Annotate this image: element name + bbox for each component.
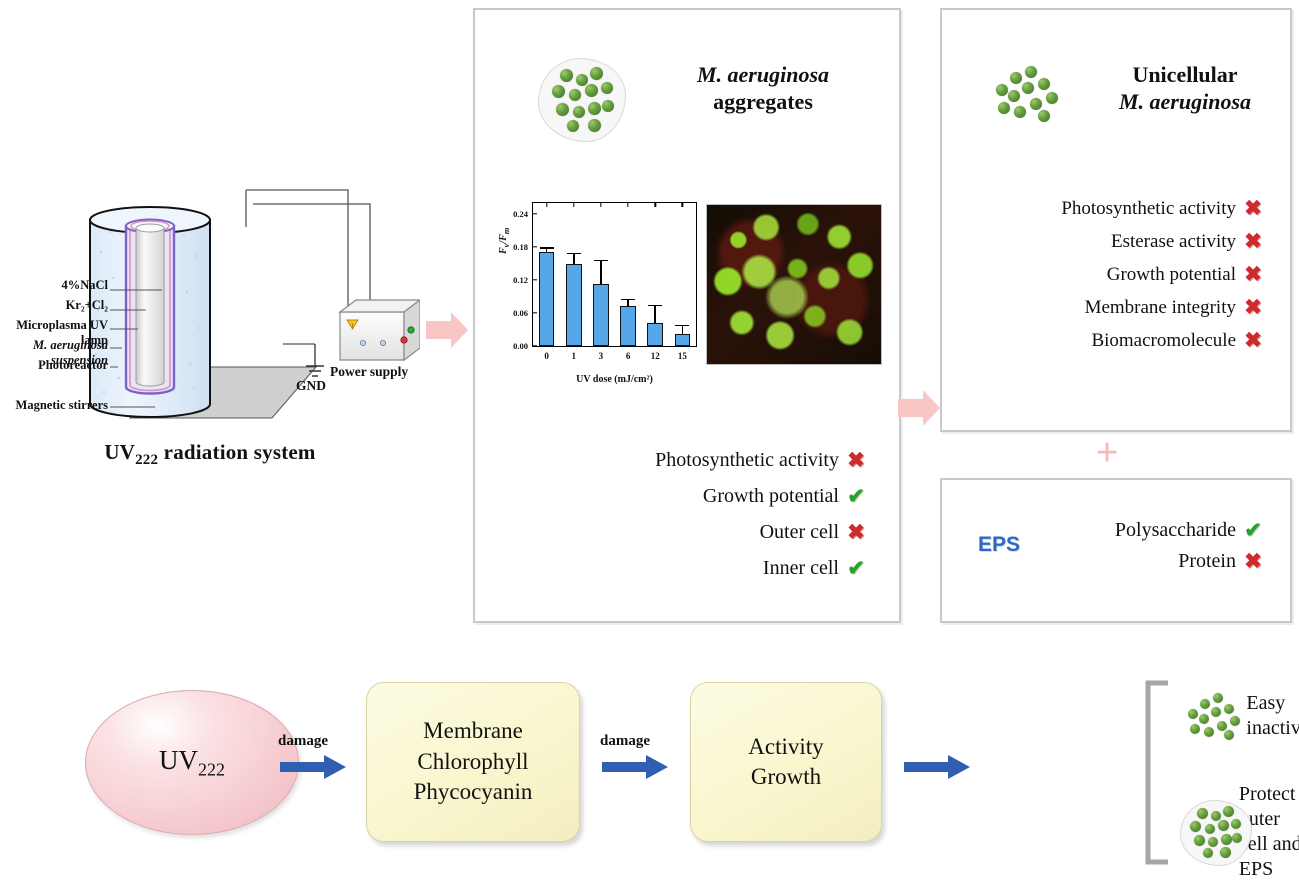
- outcome-easy-inactivation: Easy inactivation: [1184, 691, 1299, 741]
- label-photoreactor: Photoreactor: [0, 358, 108, 373]
- checklist-label: Polysaccharide: [1115, 519, 1236, 542]
- chart-y-tick-label: 0.24: [513, 209, 528, 219]
- uv-radiation-system-diagram: ! 4%NaCl Kr₂+Cl₂ Microplasma UV lamp M. …: [0, 182, 420, 442]
- checklist-row: Membrane integrity✖: [950, 295, 1270, 320]
- chart-x-tick-label: 12: [651, 351, 660, 361]
- flow-arrow-2: [602, 754, 670, 780]
- flow-box1-line2: Chlorophyll: [417, 747, 528, 777]
- chart-x-tick-mark: [627, 203, 628, 207]
- chart-y-tick-label: 0.12: [513, 275, 528, 285]
- chart-error-bar: [600, 260, 602, 284]
- outcome1-text: Easy inactivation: [1246, 691, 1299, 741]
- unicellular-cells-icon: [990, 62, 1066, 124]
- uv-system-caption: UV222 radiation system: [0, 440, 420, 469]
- cell-aggregate-icon: [1180, 800, 1225, 864]
- checklist-row: Photosynthetic activity✖: [493, 448, 873, 473]
- flow-box1-line3: Phycocyanin: [414, 777, 533, 807]
- cross-icon: ✖: [839, 448, 873, 473]
- chart-x-tick-mark: [600, 203, 601, 207]
- outcome1-line1: Easy inactivation: [1246, 691, 1299, 741]
- pink-arrow-middle-to-right: [896, 384, 942, 434]
- chart-error-cap: [648, 305, 662, 307]
- checklist-label: Photosynthetic activity: [655, 449, 839, 472]
- chart-x-tick-mark: [546, 203, 547, 207]
- outcome-bracket: [1142, 680, 1174, 866]
- chart-bar: [675, 334, 691, 346]
- label-gnd: GND: [296, 378, 326, 394]
- aggregates-checklist: Photosynthetic activity✖Growth potential…: [493, 448, 873, 592]
- panel-aggregates-title-line1: M. aeruginosa: [648, 62, 878, 89]
- flow-box2-line2: Growth: [751, 762, 821, 792]
- label-kr-cl: Kr₂+Cl₂: [0, 298, 108, 313]
- mechanism-flow-diagram: UV222 damage Membrane Chlorophyll Phycoc…: [0, 655, 1299, 866]
- chart-x-tick-mark: [682, 203, 683, 207]
- unicellular-checklist: Photosynthetic activity✖Esterase activit…: [950, 196, 1270, 361]
- chart-bar: [539, 252, 555, 346]
- checklist-row: Photosynthetic activity✖: [950, 196, 1270, 221]
- cell-aggregate-icon: [538, 58, 624, 140]
- chart-error-cap: [675, 325, 689, 327]
- chart-y-tick-mark: [533, 246, 537, 247]
- chart-x-tick-mark: [573, 203, 574, 207]
- flow-arrow1-label: damage: [278, 733, 328, 750]
- chart-plot-area: 0.000.060.120.180.24 01361215: [532, 202, 697, 347]
- label-power-supply: Power supply: [330, 364, 408, 380]
- checklist-row: Esterase activity✖: [950, 229, 1270, 254]
- chart-bar: [593, 284, 609, 346]
- chart-y-tick-label: 0.18: [513, 242, 528, 252]
- panel-unicellular-title-line2: M. aeruginosa: [1090, 89, 1280, 116]
- cross-icon: ✖: [1236, 196, 1270, 221]
- chart-x-axis-label: UV dose (mJ/cm²): [532, 374, 697, 385]
- fluorescence-micrograph-image: [706, 204, 882, 365]
- cross-icon: ✖: [1236, 262, 1270, 287]
- label-magnetic-stirrers: Magnetic stirrers: [0, 398, 108, 413]
- checklist-row: Growth potential✔: [493, 484, 873, 509]
- chart-y-tick-label: 0.00: [513, 341, 528, 351]
- chart-x-tick-label: 1: [572, 351, 577, 361]
- chart-x-tick-label: 0: [544, 351, 549, 361]
- outcome-protect-by-outer-cell-eps: Protect by outer cell and EPS: [1180, 782, 1299, 882]
- chart-bar: [647, 323, 663, 346]
- flow-arrow-1: [280, 754, 348, 780]
- panel-unicellular-title-line1: Unicellular: [1090, 62, 1280, 89]
- chart-x-tick-label: 15: [678, 351, 687, 361]
- check-icon: ✔: [839, 484, 873, 509]
- flow-source-uv222: UV222: [85, 690, 299, 835]
- checklist-label: Protein: [1178, 550, 1236, 573]
- flow-uv-sub: 222: [198, 759, 225, 779]
- chart-error-cap: [567, 253, 581, 255]
- chart-x-tick-label: 3: [599, 351, 604, 361]
- checklist-label: Membrane integrity: [1085, 297, 1236, 319]
- cross-icon: ✖: [1236, 549, 1270, 574]
- checklist-row: Protein✖: [960, 549, 1270, 574]
- checklist-label: Photosynthetic activity: [1061, 198, 1236, 220]
- checklist-label: Outer cell: [760, 521, 839, 544]
- flow-arrow-3: [904, 754, 972, 780]
- checklist-row: Inner cell✔: [493, 556, 873, 581]
- flow-box-membrane: Membrane Chlorophyll Phycocyanin: [366, 682, 580, 842]
- chart-y-tick-label: 0.06: [513, 308, 528, 318]
- checklist-label: Esterase activity: [1111, 231, 1236, 253]
- checklist-row: Biomacromolecule✖: [950, 328, 1270, 353]
- cross-icon: ✖: [839, 520, 873, 545]
- pink-arrow-left-to-middle: [424, 306, 470, 356]
- label-nacl: 4%NaCl: [0, 278, 108, 293]
- chart-bar: [566, 264, 582, 346]
- chart-error-bar: [573, 253, 575, 265]
- flow-box-activity: Activity Growth: [690, 682, 882, 842]
- flow-uv-text: UV: [159, 745, 198, 775]
- plus-sign: +: [1096, 434, 1118, 472]
- caption-tail: radiation system: [158, 440, 315, 464]
- caption-222: 222: [135, 452, 158, 468]
- chart-x-tick-label: 6: [626, 351, 631, 361]
- flow-arrow2-label: damage: [600, 733, 650, 750]
- checklist-row: Growth potential✖: [950, 262, 1270, 287]
- chart-error-cap: [540, 247, 554, 249]
- chart-x-tick-mark: [655, 203, 656, 207]
- checklist-label: Inner cell: [763, 557, 839, 580]
- chart-bar: [620, 306, 636, 346]
- chart-y-axis-label: Fv/Fm: [498, 228, 511, 254]
- flow-box2-line1: Activity: [748, 732, 823, 762]
- cross-icon: ✖: [1236, 229, 1270, 254]
- chart-error-bar: [654, 305, 656, 324]
- chart-y-tick-mark: [533, 279, 537, 280]
- chart-y-tick-mark: [533, 345, 537, 346]
- eps-checklist: Polysaccharide✔Protein✖: [960, 518, 1270, 580]
- checklist-label: Growth potential: [1107, 264, 1236, 286]
- check-icon: ✔: [839, 556, 873, 581]
- panel-unicellular-title: Unicellular M. aeruginosa: [1090, 62, 1280, 116]
- checklist-label: Growth potential: [703, 485, 839, 508]
- checklist-label: Biomacromolecule: [1091, 330, 1236, 352]
- flow-box1-line1: Membrane: [423, 716, 523, 746]
- cross-icon: ✖: [1236, 295, 1270, 320]
- checklist-row: Outer cell✖: [493, 520, 873, 545]
- unicellular-cells-icon: [1184, 691, 1232, 741]
- panel-aggregates-title-line2: aggregates: [648, 89, 878, 116]
- chart-y-tick-mark: [533, 213, 537, 214]
- chart-y-tick-mark: [533, 312, 537, 313]
- checklist-row: Polysaccharide✔: [960, 518, 1270, 543]
- caption-uv: UV: [104, 440, 135, 464]
- panel-aggregates-title: M. aeruginosa aggregates: [648, 62, 878, 116]
- chart-error-cap: [621, 299, 635, 301]
- fv-fm-bar-chart: Fv/Fm 0.000.060.120.180.24 01361215 UV d…: [500, 198, 700, 383]
- cross-icon: ✖: [1236, 328, 1270, 353]
- chart-error-cap: [594, 260, 608, 262]
- check-icon: ✔: [1236, 518, 1270, 543]
